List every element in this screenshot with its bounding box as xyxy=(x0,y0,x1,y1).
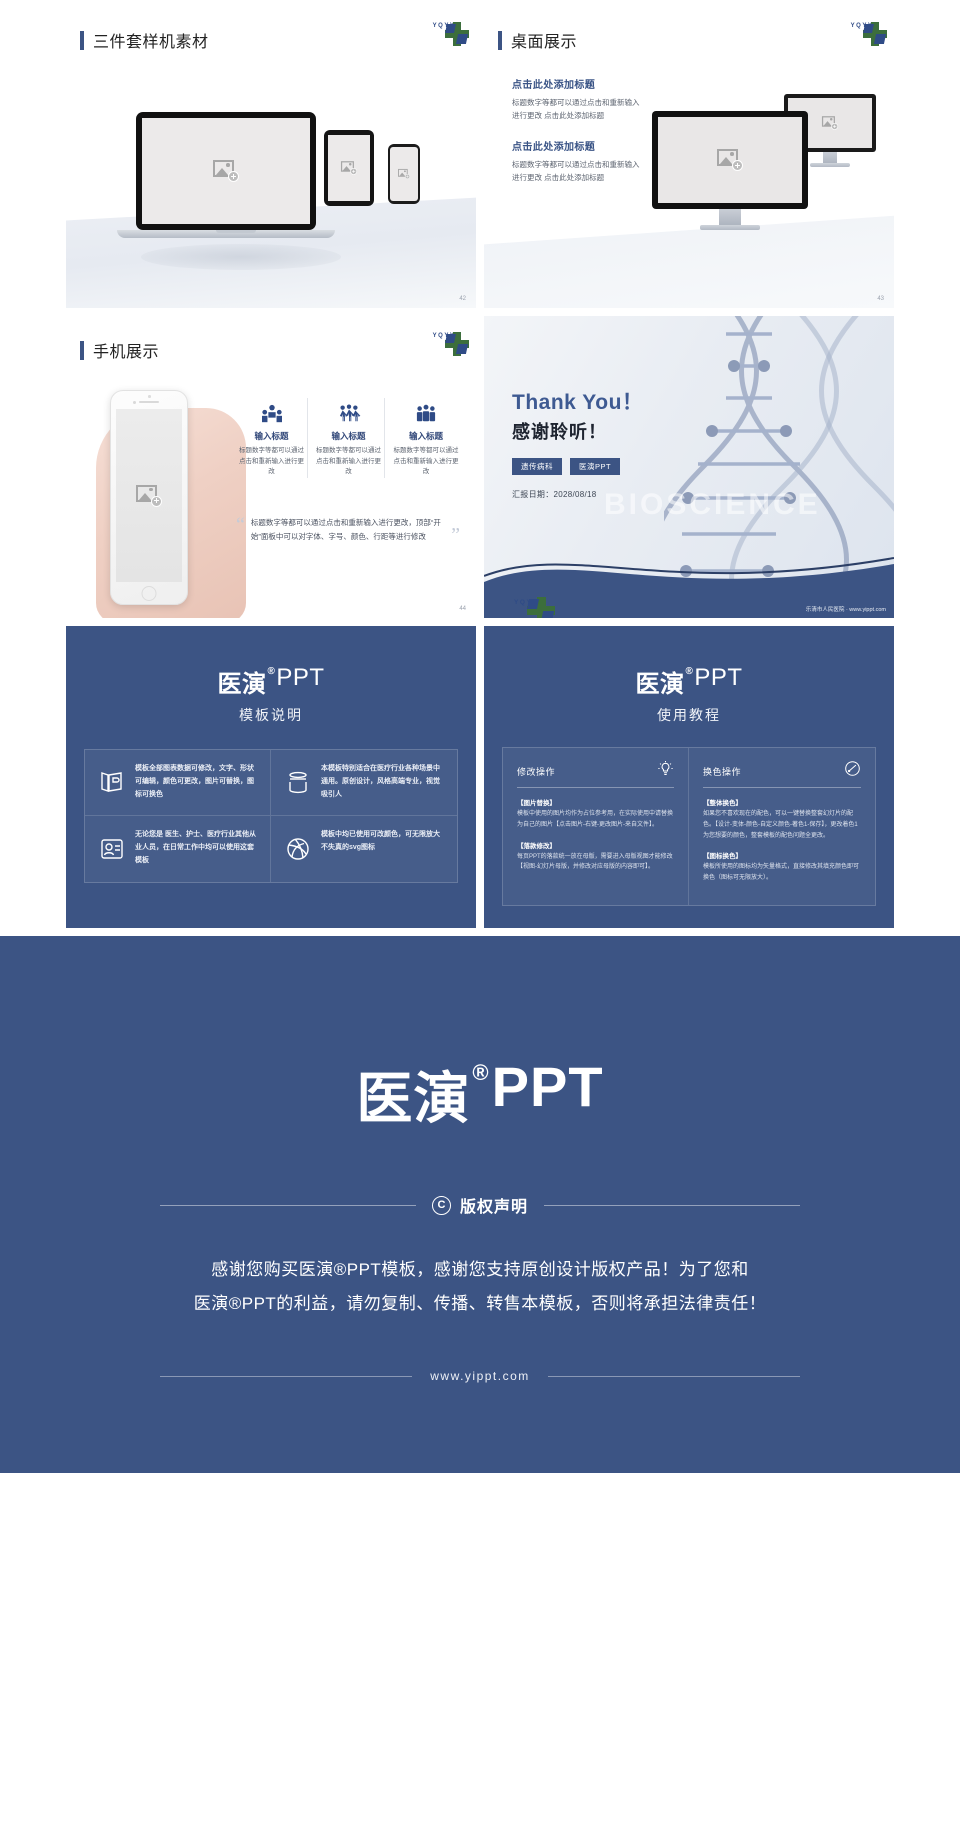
tutorial-block: 【图标换色】 模板所使用的图标均为矢量格式，直接修改其填充颜色即可换色（图标可无… xyxy=(703,850,861,884)
image-placeholder-icon xyxy=(136,485,162,507)
text-block: 点击此处添加标题 标题数字等都可以通过点击和重新输入进行更改 点击此处添加标题 xyxy=(512,76,642,122)
divider-left xyxy=(160,1205,416,1206)
copyright-footer-row: www.yippt.com xyxy=(160,1369,800,1383)
tutorial-column-header: 换色操作 xyxy=(703,760,861,788)
image-placeholder-icon xyxy=(717,149,743,171)
tutorial-column-title: 修改操作 xyxy=(517,765,555,778)
copyright-title: 版权声明 xyxy=(460,1193,528,1217)
image-placeholder-icon xyxy=(341,161,357,175)
hand-holding-phone-photo xyxy=(78,378,238,618)
block-heading: 点击此处添加标题 xyxy=(512,76,642,91)
layers-icon xyxy=(284,763,312,802)
tutorial-block-heading: 【落款修改】 xyxy=(517,840,674,850)
palette-icon xyxy=(844,760,861,782)
info-card[interactable]: 模板中均已使用可改颜色，可无限放大不失真的svg图标 xyxy=(271,816,457,882)
yqyy-logo: YQYY xyxy=(846,22,878,29)
slide1-page-number: 42 xyxy=(459,296,466,302)
slide-desktop-display[interactable]: 桌面展示 YQYY 点击此处添加标题 标题数字等都可以通过点击和重新输入进行更改… xyxy=(484,6,894,308)
badge-row: 遗传病科 医演PPT xyxy=(512,458,643,475)
monitor-large-mockup xyxy=(652,111,808,230)
thank-you-title-cn: 感谢聆听！ xyxy=(512,418,643,444)
tutorial-column-title: 换色操作 xyxy=(703,765,741,778)
dribbble-icon xyxy=(284,829,312,869)
tutorial-column-edit[interactable]: 修改操作 【图片替换】 模板中使用的图片均作为占位参考用，在实际使用中请替换为自… xyxy=(503,748,689,905)
report-date: 汇报日期：2028/08/18 xyxy=(512,489,643,500)
tutorial-subtitle: 使用教程 xyxy=(484,705,894,725)
brand-reg: ® xyxy=(685,666,693,677)
slide3-page-number: 44 xyxy=(459,606,466,612)
brand-block: 医演®PPT 使用教程 xyxy=(484,626,894,725)
info-card-text: 无论您是 医生、护士、医疗行业其他从业人员，在日常工作中均可以使用这套模板 xyxy=(135,829,257,869)
quote-open-icon: “ xyxy=(236,516,245,534)
slide2-header: 桌面展示 xyxy=(498,28,880,52)
title-accent-bar xyxy=(80,31,84,50)
feature-item[interactable]: 输入标题 标题数字等都可以通过点击和重新输入进行更改 xyxy=(236,398,308,478)
badge-brand[interactable]: 医演PPT xyxy=(570,458,620,475)
divider-right xyxy=(548,1376,800,1377)
tutorial-block-heading: 【图片替换】 xyxy=(517,797,674,807)
tutorial-column-color[interactable]: 换色操作 【整体换色】 如果您不喜欢现在的配色，可以一键替换整套幻灯片的配色。【… xyxy=(689,748,875,905)
feature-item[interactable]: 输入标题 标题数字等都可以通过点击和重新输入进行更改 xyxy=(313,398,385,478)
block-heading: 点击此处添加标题 xyxy=(512,138,642,153)
brand-cn: 医演 xyxy=(217,664,266,699)
website-url[interactable]: www.yippt.com xyxy=(430,1369,530,1383)
copyright-icon: C xyxy=(432,1196,451,1215)
block-body: 标题数字等都可以通过点击和重新输入进行更改 点击此处添加标题 xyxy=(512,96,642,122)
tutorial-block-body: 模板中使用的图片均作为占位参考用，在实际使用中请替换为自己的图片【点击图片-右键… xyxy=(517,809,674,831)
slide-mobile-display[interactable]: 手机展示 YQYY xyxy=(66,316,476,618)
user-id-icon xyxy=(98,829,126,869)
copyright-line-1: 感谢您购买医演®PPT模板，感谢您支持原创设计版权产品！为了您和 xyxy=(170,1253,790,1287)
text-block: 点击此处添加标题 标题数字等都可以通过点击和重新输入进行更改 点击此处添加标题 xyxy=(512,138,642,184)
brand-block: 医演®PPT 模板说明 xyxy=(66,626,476,725)
slide-tutorial[interactable]: 医演®PPT 使用教程 修改操作 xyxy=(484,626,894,928)
tutorial-column-header: 修改操作 xyxy=(517,760,674,788)
brand-cn: 医演 xyxy=(635,664,684,699)
slide1-header: 三件套样机素材 xyxy=(80,28,462,52)
copyright-title-row: C 版权声明 xyxy=(160,1193,800,1217)
template-info-cards: 模板全部图表数据可修改，文字、形状可编辑，颜色可更改，图片可替换，图标可换色 本… xyxy=(84,749,458,883)
people-group-icon xyxy=(316,398,381,424)
tutorial-block-body: 模板所使用的图标均为矢量格式，直接修改其填充颜色即可换色（图标可无限放大）。 xyxy=(703,862,861,884)
book-icon xyxy=(98,763,126,802)
title-accent-bar xyxy=(498,31,502,50)
tutorial-block-heading: 【整体换色】 xyxy=(703,797,861,807)
tablet-mockup xyxy=(324,130,374,206)
info-card[interactable]: 模板全部图表数据可修改，文字、形状可编辑，颜色可更改，图片可替换，图标可换色 xyxy=(85,750,271,816)
quote-block: “ 标题数字等都可以通过点击和重新输入进行更改，顶部“开始”面板中可以对字体、字… xyxy=(236,516,460,544)
copyright-line-2: 医演®PPT的利益，请勿复制、传播、转售本模板，否则将承担法律责任！ xyxy=(170,1287,790,1321)
brand-en: PPT xyxy=(694,664,742,692)
divider-left xyxy=(160,1376,412,1377)
slide-mockup-set[interactable]: 三件套样机素材 YQYY xyxy=(66,6,476,308)
tutorial-block: 【整体换色】 如果您不喜欢现在的配色，可以一键替换整套幻灯片的配色。【设计-变体… xyxy=(703,797,861,841)
laptop-mockup xyxy=(136,112,335,233)
phone-mockup xyxy=(388,144,420,204)
copyright-banner: 医演®PPT C 版权声明 感谢您购买医演®PPT模板，感谢您支持原创设计版权产… xyxy=(0,936,960,1473)
slide2-page-number: 43 xyxy=(877,296,884,302)
slide-template-info[interactable]: 医演®PPT 模板说明 模板全部图表数据可修改，文字、形状可编辑，颜色可更改，图… xyxy=(66,626,476,928)
feature-row: 输入标题 标题数字等都可以通过点击和重新输入进行更改 输入标题 标题数字等都可以… xyxy=(236,398,462,478)
slide3-title: 手机展示 xyxy=(93,338,159,362)
yqyy-logo: YQYY xyxy=(428,22,460,29)
brand-en: PPT xyxy=(492,1054,604,1119)
block-body: 标题数字等都可以通过点击和重新输入进行更改 点击此处添加标题 xyxy=(512,158,642,184)
brand-logo-text: 医演®PPT xyxy=(217,664,324,699)
feature-body: 标题数字等都可以通过点击和重新输入进行更改 xyxy=(393,446,459,478)
info-card[interactable]: 无论您是 医生、护士、医疗行业其他从业人员，在日常工作中均可以使用这套模板 xyxy=(85,816,271,882)
quote-close-icon: ” xyxy=(451,526,460,544)
thank-you-title-en: Thank You！ xyxy=(512,386,643,416)
info-card[interactable]: 本模板特别适合在医疗行业各种场景中通用。原创设计，风格高端专业，视觉吸引人 xyxy=(271,750,457,816)
slide3-header: 手机展示 xyxy=(80,338,462,362)
brand-reg: ® xyxy=(267,666,275,677)
bulb-icon xyxy=(657,760,674,782)
brand-logo-text: 医演®PPT xyxy=(635,664,742,699)
brand-en: PPT xyxy=(276,664,324,692)
slide-thank-you[interactable]: BIOSCIENCE Thank You！ 感谢聆听！ 遗传病科 医演PPT 汇… xyxy=(484,316,894,618)
yqyy-logo: YQYY xyxy=(428,332,460,339)
feature-title: 输入标题 xyxy=(316,430,381,442)
info-card-text: 本模板特别适合在医疗行业各种场景中通用。原创设计，风格高端专业，视觉吸引人 xyxy=(321,763,444,802)
brand-reg: ® xyxy=(472,1060,489,1086)
tutorial-columns: 修改操作 【图片替换】 模板中使用的图片均作为占位参考用，在实际使用中请替换为自… xyxy=(502,747,876,906)
slide-grid: 三件套样机素材 YQYY xyxy=(0,0,960,928)
tutorial-block-body: 每页PPT的落款统一放在母版，需要进入母版视图才能修改【视图-幻灯片母版，并修改… xyxy=(517,852,674,874)
quote-text: 标题数字等都可以通过点击和重新输入进行更改，顶部“开始”面板中可以对字体、字号、… xyxy=(245,516,447,544)
image-placeholder-icon xyxy=(398,169,410,179)
mockup-reflection xyxy=(141,244,341,270)
feature-title: 输入标题 xyxy=(239,430,304,442)
copyright-body: 感谢您购买医演®PPT模板，感谢您支持原创设计版权产品！为了您和 医演®PPT的… xyxy=(170,1253,790,1321)
image-placeholder-icon xyxy=(213,160,239,182)
badge-department[interactable]: 遗传病科 xyxy=(512,458,562,475)
brand-cn: 医演 xyxy=(356,1054,470,1135)
title-accent-bar xyxy=(80,341,84,360)
feature-body: 标题数字等都可以通过点击和重新输入进行更改 xyxy=(239,446,304,478)
tutorial-block: 【图片替换】 模板中使用的图片均作为占位参考用，在实际使用中请替换为自己的图片【… xyxy=(517,797,674,831)
info-card-text: 模板中均已使用可改颜色，可无限放大不失真的svg图标 xyxy=(321,829,444,869)
template-info-subtitle: 模板说明 xyxy=(66,705,476,725)
feature-item[interactable]: 输入标题 标题数字等都可以通过点击和重新输入进行更改 xyxy=(390,398,462,478)
slide2-text-blocks: 点击此处添加标题 标题数字等都可以通过点击和重新输入进行更改 点击此处添加标题 … xyxy=(512,76,642,201)
info-card-text: 模板全部图表数据可修改，文字、形状可编辑，颜色可更改，图片可替换，图标可换色 xyxy=(135,763,257,802)
slide1-title: 三件套样机素材 xyxy=(93,28,209,52)
copyright-brand-logo: 医演®PPT xyxy=(356,1054,603,1135)
people-check-icon xyxy=(239,398,304,424)
footer-note: 乐清市人民医院 · www.yippt.com xyxy=(806,605,886,613)
image-placeholder-icon xyxy=(822,116,838,130)
thank-you-block: Thank You！ 感谢聆听！ 遗传病科 医演PPT 汇报日期：2028/08… xyxy=(512,386,643,500)
divider-right xyxy=(544,1205,800,1206)
slide2-title: 桌面展示 xyxy=(511,28,577,52)
feature-body: 标题数字等都可以通过点击和重新输入进行更改 xyxy=(316,446,381,478)
tutorial-block-heading: 【图标换色】 xyxy=(703,850,861,860)
tutorial-block-body: 如果您不喜欢现在的配色，可以一键替换整套幻灯片的配色。【设计-变体-颜色-自定义… xyxy=(703,809,861,841)
tutorial-block: 【落款修改】 每页PPT的落款统一放在母版，需要进入母版视图才能修改【视图-幻灯… xyxy=(517,840,674,874)
yqyy-logo-footer: YQYY xyxy=(514,597,538,606)
feature-title: 输入标题 xyxy=(393,430,459,442)
people-trio-icon xyxy=(393,398,459,424)
presentation-thumbnail-page: 三件套样机素材 YQYY xyxy=(0,0,960,1473)
